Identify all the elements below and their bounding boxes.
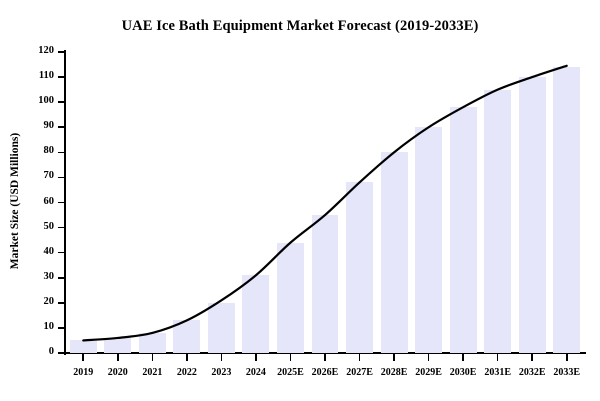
y-axis-tick [58,202,65,204]
bar [415,127,442,353]
y-axis-tick [58,227,65,229]
bar [242,275,269,353]
y-axis-tick [58,352,65,354]
y-axis-tick-label: 20 [28,296,54,307]
chart-screenshot: UAE Ice Bath Equipment Market Forecast (… [0,0,600,401]
y-axis-tick-label: 40 [28,246,54,257]
bar [553,67,580,353]
y-axis-tick [58,76,65,78]
y-axis-tick-label: 30 [28,271,54,282]
y-axis-tick-label: 10 [28,321,54,332]
bar [519,77,546,353]
bar [346,182,373,353]
y-axis-tick-label: 90 [28,120,54,131]
plot-area [66,52,584,353]
x-axis-tick [359,354,361,361]
x-axis-tick [531,354,533,361]
y-axis-tick [58,302,65,304]
x-axis-tick [255,354,257,361]
y-axis-tick-label: 120 [28,45,54,56]
y-axis-title: Market Size (USD Millions) [7,0,23,401]
bar [208,303,235,353]
bar [484,90,511,353]
y-axis-tick [58,277,65,279]
x-axis-tick [117,354,119,361]
x-axis-tick [428,354,430,361]
x-axis-tick [186,354,188,361]
bar [104,338,131,353]
x-axis-tick [497,354,499,361]
page-title: UAE Ice Bath Equipment Market Forecast (… [0,18,600,35]
y-axis-tick [58,252,65,254]
y-axis-tick [58,101,65,103]
x-axis-tick [152,354,154,361]
y-axis-tick [58,177,65,179]
y-axis-tick-label: 70 [28,170,54,181]
bar [139,333,166,353]
bar [450,107,477,353]
x-axis-tick [462,354,464,361]
y-axis-tick-label: 50 [28,221,54,232]
y-axis-tick [58,327,65,329]
x-axis-tick [82,354,84,361]
bar [312,215,339,353]
bar [173,320,200,353]
x-axis-tick-label: 2033E [542,367,592,378]
x-axis-tick [290,354,292,361]
bar [381,152,408,353]
y-axis-tick-label: 60 [28,196,54,207]
y-axis-tick-label: 0 [28,346,54,357]
bar [277,243,304,353]
y-axis-tick-label: 100 [28,95,54,106]
y-axis-tick [58,152,65,154]
x-axis-tick [566,354,568,361]
x-axis-tick [324,354,326,361]
y-axis-tick [58,51,65,53]
y-axis-tick-label: 80 [28,145,54,156]
y-axis-tick-label: 110 [28,70,54,81]
x-axis-tick [221,354,223,361]
bar [70,340,97,353]
x-axis-tick [393,354,395,361]
y-axis-tick [58,126,65,128]
y-axis-title-label: Market Size (USD Millions) [9,132,21,268]
